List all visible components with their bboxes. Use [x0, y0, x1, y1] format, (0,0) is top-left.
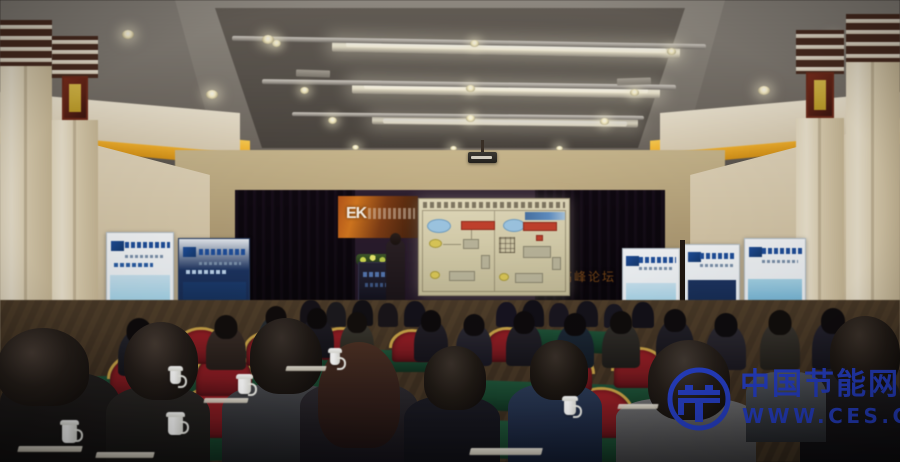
spotlight-icon	[600, 118, 609, 125]
audience-person	[378, 303, 398, 327]
presenter-person	[386, 240, 405, 306]
ceiling-projector	[468, 152, 497, 163]
slide-box	[463, 239, 479, 249]
banner-brand-text	[639, 257, 677, 263]
banner-brand-text	[700, 253, 736, 259]
ceiling-vent	[296, 69, 330, 77]
audience-person-head	[830, 316, 900, 390]
spotlight-icon	[328, 117, 337, 124]
teacup	[168, 416, 183, 435]
downlight-icon	[262, 35, 274, 44]
slide-node-icon	[499, 273, 509, 281]
slide-node-icon	[430, 271, 440, 279]
slide-box	[552, 257, 561, 270]
downlight-icon	[122, 30, 134, 39]
euroklimat-logo-icon	[749, 247, 762, 257]
slide-connector	[471, 230, 472, 239]
audience-person-head	[124, 322, 198, 400]
audience-person-head	[250, 318, 322, 394]
slide-connector	[443, 244, 461, 245]
stage-backdrop-banner: EK	[338, 196, 418, 238]
slide-box	[449, 271, 475, 281]
teacup	[62, 424, 77, 443]
slide-grid-table	[499, 237, 515, 253]
column-ornament-panel	[62, 76, 89, 120]
banner-cn-text	[114, 263, 154, 267]
handout-paper	[285, 366, 326, 371]
backdrop-logo-text: EK	[346, 205, 366, 223]
slide-title-text	[423, 202, 565, 208]
banner-cn-text	[186, 270, 228, 274]
slide-accent-box	[536, 235, 543, 241]
audience-person	[602, 322, 640, 368]
teacup	[564, 400, 576, 415]
spotlight-icon	[470, 40, 479, 47]
euroklimat-logo-icon	[183, 247, 196, 257]
audience-person-head	[530, 340, 588, 400]
projection-screen	[418, 198, 570, 296]
slide-cloud-shape	[503, 219, 525, 232]
audience-person-head	[424, 346, 486, 410]
audience-person	[632, 302, 654, 328]
backdrop-headline-text	[368, 208, 415, 219]
audience-person-head	[648, 340, 730, 420]
spotlight-icon	[667, 48, 676, 55]
banner-subtitle-text	[639, 267, 673, 270]
banner-subtitle-text	[762, 260, 798, 263]
downlight-icon	[758, 86, 770, 95]
euroklimat-logo-icon	[111, 241, 124, 251]
banner-subtitle-text	[700, 264, 732, 267]
audience-person	[206, 326, 246, 370]
column-ornament-panel	[806, 72, 834, 118]
banner-brand-text	[762, 248, 802, 254]
handout-paper	[17, 446, 82, 452]
ceiling-vent	[617, 77, 651, 85]
slide-cloud-shape	[427, 219, 451, 233]
banner-brand-text	[199, 249, 246, 255]
handout-paper	[95, 452, 154, 458]
banner-subtitle-text	[199, 262, 241, 265]
teacup	[170, 370, 181, 384]
euroklimat-logo-icon	[626, 256, 639, 266]
spotlight-icon	[300, 87, 309, 94]
conference-hall-photo: EK 高峰论坛	[0, 0, 900, 462]
slide-box	[515, 273, 543, 283]
slide-node-icon	[429, 239, 442, 248]
handout-paper	[203, 398, 248, 403]
slide-brand-logo	[525, 212, 565, 220]
spotlight-icon	[466, 115, 475, 122]
slide-header-box	[461, 221, 495, 230]
slide-box	[523, 246, 551, 258]
spotlight-icon	[630, 89, 639, 96]
slide-box	[481, 255, 490, 269]
downlight-icon	[206, 90, 218, 99]
audience-person	[760, 322, 800, 370]
teacup	[238, 378, 251, 394]
slide-header-box	[523, 222, 557, 231]
handout-paper	[617, 404, 658, 409]
banner-brand-text	[125, 242, 169, 248]
audience-person	[746, 372, 826, 442]
spotlight-icon	[466, 85, 475, 92]
teacup	[330, 352, 340, 365]
handout-paper	[469, 448, 543, 455]
banner-subtitle-text	[125, 255, 165, 258]
